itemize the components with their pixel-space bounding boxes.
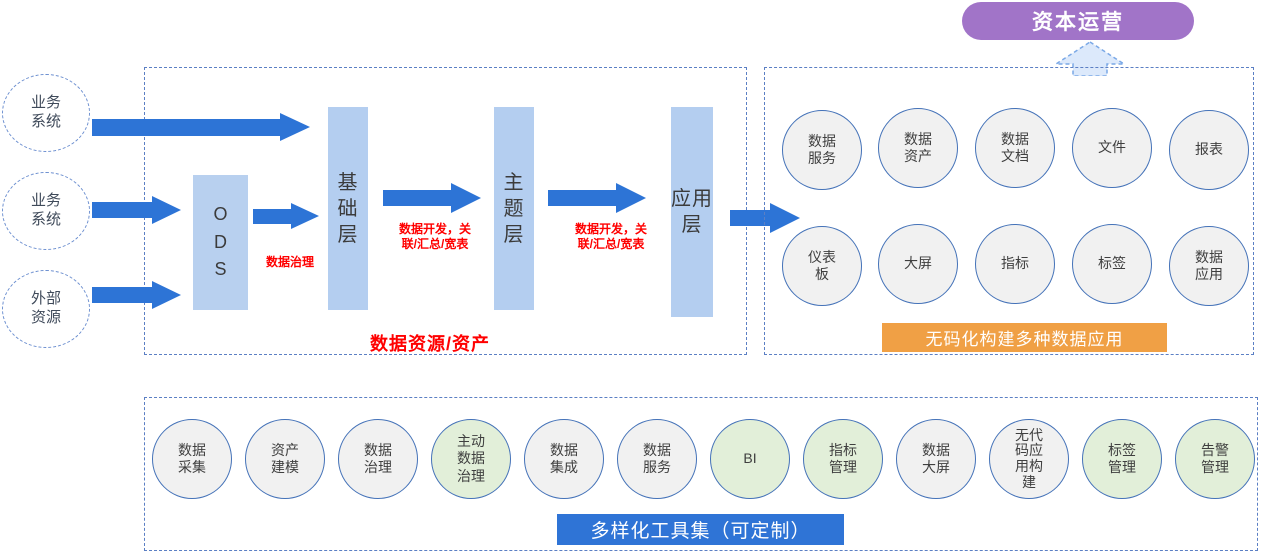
no-code-banner-label: 无码化构建多种数据应用 (926, 325, 1124, 350)
tool-label-6: 数据 服务 (643, 442, 671, 476)
arrow-source1-to-base (92, 113, 310, 142)
output-circle-3[interactable]: 数据 文档 (975, 108, 1055, 188)
no-code-banner: 无码化构建多种数据应用 (882, 323, 1167, 352)
base-layer-label: 基础 层 (328, 170, 368, 248)
tool-label-4: 主动 数据 治理 (457, 433, 485, 484)
arrow-source2-to-ods (92, 196, 192, 224)
source-label-2: 业务 系统 (31, 192, 61, 230)
toolset-banner: 多样化工具集（可定制） (557, 514, 844, 545)
output-circle-5[interactable]: 报表 (1169, 110, 1249, 190)
output-circle-9[interactable]: 标签 (1072, 224, 1152, 304)
arrow-base-to-theme (383, 183, 493, 213)
capital-operations-label: 资本运营 (1032, 6, 1124, 36)
output-circle-7[interactable]: 大屏 (878, 224, 958, 304)
tool-label-1: 数据 采集 (178, 442, 206, 476)
tool-label-12: 告警 管理 (1201, 442, 1229, 476)
arrow-theme-to-app (548, 183, 658, 213)
tool-circle-12[interactable]: 告警 管理 (1175, 419, 1255, 499)
toolset-banner-label: 多样化工具集（可定制） (590, 516, 810, 543)
output-label-4: 文件 (1098, 139, 1126, 156)
tool-circle-1[interactable]: 数据 采集 (152, 419, 232, 499)
tool-label-8: 指标 管理 (829, 442, 857, 476)
annotation-data-governance: 数据治理 (248, 255, 332, 270)
tool-circle-9[interactable]: 数据 大屏 (896, 419, 976, 499)
output-label-2: 数据 资产 (904, 131, 932, 165)
tool-label-2: 资产 建模 (271, 442, 299, 476)
theme-layer-column[interactable]: 主题 层 (494, 107, 534, 310)
tool-label-10: 无代 码应 用构 建 (1015, 428, 1043, 491)
ods-label: O D S (213, 201, 227, 285)
output-label-9: 标签 (1098, 255, 1126, 272)
tool-circle-10[interactable]: 无代 码应 用构 建 (989, 419, 1069, 499)
data-resource-title: 数据资源/资产 (370, 330, 490, 356)
theme-layer-label: 主题 层 (494, 170, 534, 248)
output-circle-4[interactable]: 文件 (1072, 108, 1152, 188)
output-label-6: 仪表 板 (808, 249, 836, 283)
source-label-3: 外部 资源 (31, 290, 61, 328)
output-label-1: 数据 服务 (808, 133, 836, 167)
source-ellipse-2[interactable]: 业务 系统 (2, 172, 90, 250)
annotation-dev-1: 数据开发，关 联/汇总/宽表 (380, 222, 490, 252)
tool-label-7: BI (743, 450, 756, 467)
output-circle-10[interactable]: 数据 应用 (1169, 226, 1249, 306)
app-layer-label: 应用 层 (671, 186, 713, 238)
output-label-10: 数据 应用 (1195, 249, 1223, 283)
capital-operations-badge[interactable]: 资本运营 (962, 2, 1194, 40)
source-ellipse-1[interactable]: 业务 系统 (2, 74, 90, 152)
output-circle-2[interactable]: 数据 资产 (878, 108, 958, 188)
output-label-3: 数据 文档 (1001, 131, 1029, 165)
tool-circle-2[interactable]: 资产 建模 (245, 419, 325, 499)
tool-circle-4[interactable]: 主动 数据 治理 (431, 419, 511, 499)
arrow-source3-to-ods (92, 281, 192, 309)
tool-circle-6[interactable]: 数据 服务 (617, 419, 697, 499)
annotation-dev-2: 数据开发，关 联/汇总/宽表 (556, 222, 666, 252)
output-label-5: 报表 (1195, 141, 1223, 158)
output-label-7: 大屏 (904, 255, 932, 272)
base-layer-column[interactable]: 基础 层 (328, 107, 368, 310)
tool-label-9: 数据 大屏 (922, 442, 950, 476)
app-layer-column[interactable]: 应用 层 (671, 107, 713, 317)
arrow-ods-to-base (253, 203, 328, 231)
tool-circle-11[interactable]: 标签 管理 (1082, 419, 1162, 499)
tool-label-5: 数据 集成 (550, 442, 578, 476)
source-ellipse-3[interactable]: 外部 资源 (2, 270, 90, 348)
tool-label-11: 标签 管理 (1108, 442, 1136, 476)
tool-circle-5[interactable]: 数据 集成 (524, 419, 604, 499)
tool-circle-8[interactable]: 指标 管理 (803, 419, 883, 499)
tool-label-3: 数据 治理 (364, 442, 392, 476)
tool-circle-3[interactable]: 数据 治理 (338, 419, 418, 499)
diagram-canvas: 资本运营 业务 系统 业务 系统 外部 资源 O D S 数据治理 (0, 0, 1268, 555)
output-label-8: 指标 (1001, 255, 1029, 272)
output-circle-8[interactable]: 指标 (975, 224, 1055, 304)
tool-circle-7[interactable]: BI (710, 419, 790, 499)
source-label-1: 业务 系统 (31, 94, 61, 132)
output-circle-1[interactable]: 数据 服务 (782, 110, 862, 190)
ods-column[interactable]: O D S (193, 175, 248, 310)
output-circle-6[interactable]: 仪表 板 (782, 226, 862, 306)
